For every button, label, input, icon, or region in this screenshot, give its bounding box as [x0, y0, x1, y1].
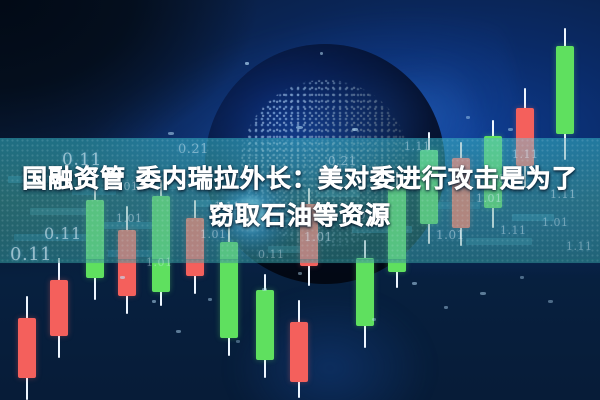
candlestick-body — [556, 46, 574, 134]
candlestick-body — [256, 290, 274, 360]
floating-number: 0.11 — [258, 248, 285, 261]
headline-line-2: 窃取石油等资源 — [0, 197, 600, 234]
floating-number: 0.21 — [178, 142, 209, 157]
candlestick-body — [50, 280, 68, 336]
banner-image: 0.111.010.211.011.110.111.011.010.111.01… — [0, 0, 600, 400]
candlestick-body — [18, 318, 36, 378]
floating-number: 1.11 — [404, 140, 431, 153]
headline-text: 国融资管 委内瑞拉外长：美对委进行攻击是为了 窃取石油等资源 — [0, 160, 600, 234]
floating-number: 0.11 — [10, 244, 52, 265]
floating-number: 1.01 — [146, 256, 173, 269]
headline-line-1: 国融资管 委内瑞拉外长：美对委进行攻击是为了 — [0, 160, 600, 197]
floating-number: 1.11 — [566, 240, 593, 253]
